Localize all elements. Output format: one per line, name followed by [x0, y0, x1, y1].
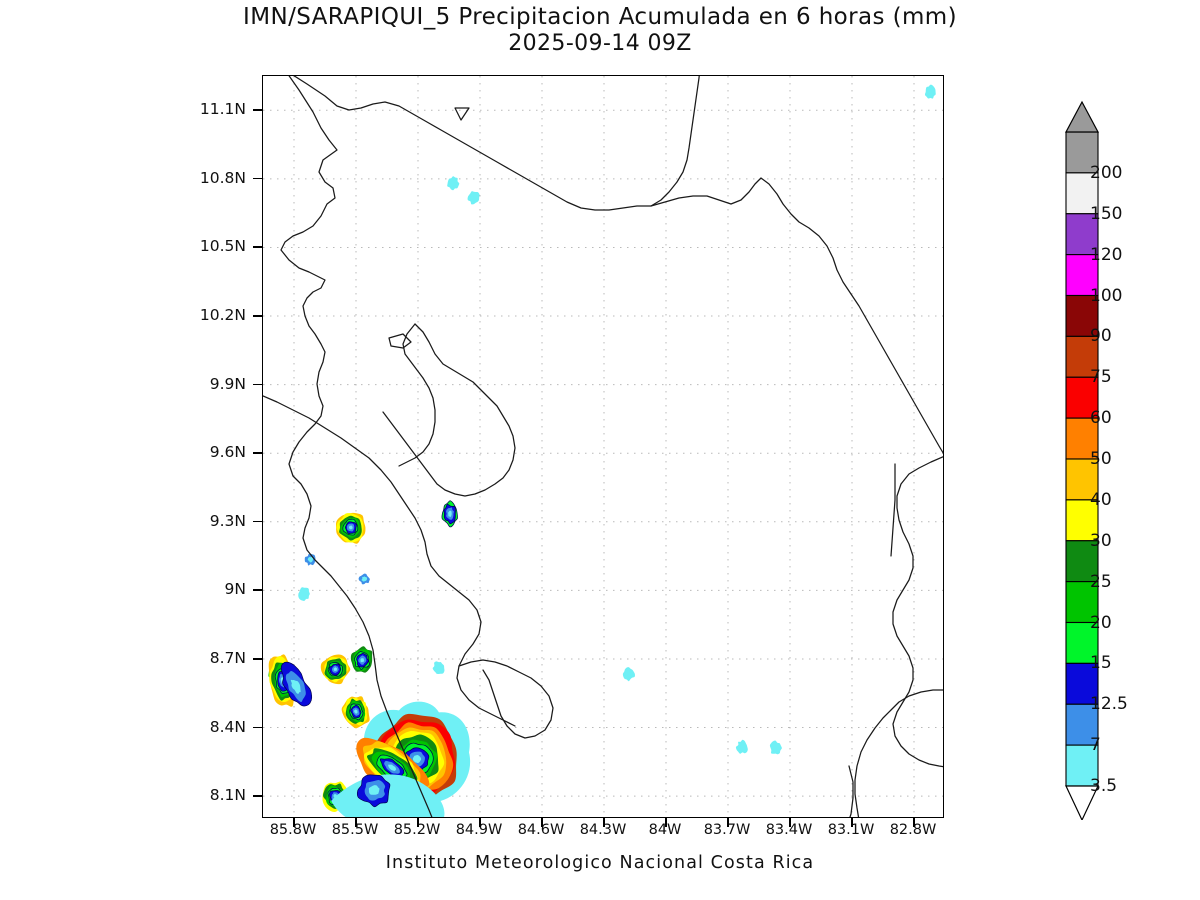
x-tick-mark-5 [603, 818, 605, 827]
triangle-up-icon [1066, 102, 1098, 132]
x-tick-mark-7 [727, 818, 729, 827]
precip-contour [623, 667, 635, 681]
map-plot-area[interactable] [262, 75, 944, 818]
y-tick-mark-3 [253, 315, 262, 317]
y-tick-label-10: 8.1N [210, 786, 246, 804]
x-tick-mark-3 [479, 818, 481, 827]
precip-contour [736, 740, 748, 754]
y-tick-mark-5 [253, 452, 262, 454]
y-tick-mark-10 [253, 795, 262, 797]
precip-contour [433, 661, 445, 674]
precipitation-map-page: IMN/SARAPIQUI_5 Precipitacion Acumulada … [0, 0, 1200, 900]
precip-contour [360, 658, 364, 662]
colorbar-tick-30: 30 [1090, 531, 1112, 551]
y-tick-label-6: 9.3N [210, 512, 246, 530]
y-tick-mark-1 [253, 178, 262, 180]
x-tick-label-4: 84.6W [518, 822, 565, 838]
colorbar-tick-12.5: 12.5 [1090, 694, 1128, 714]
colorbar-tick-25: 25 [1090, 572, 1112, 592]
precip-contour [770, 741, 782, 755]
colorbar-tick-50: 50 [1090, 449, 1112, 469]
title-datetime: 2025-09-14 09Z [0, 31, 1200, 57]
y-tick-label-7: 9N [225, 580, 246, 598]
x-tick-label-3: 84.9W [456, 822, 503, 838]
y-tick-mark-9 [253, 727, 262, 729]
y-tick-label-5: 9.6N [210, 443, 246, 461]
precip-contour [447, 176, 459, 190]
y-tick-label-0: 11.1N [200, 100, 246, 118]
x-tick-mark-1 [355, 818, 357, 827]
y-tick-mark-6 [253, 521, 262, 523]
colorbar[interactable]: 3.5712.5152025304050607590100120150200 [1048, 96, 1198, 820]
y-tick-mark-4 [253, 384, 262, 386]
colorbar-tick-200: 200 [1090, 163, 1122, 183]
y-tick-mark-2 [253, 246, 262, 248]
x-tick-label-5: 84.3W [580, 822, 627, 838]
colorbar-tick-75: 75 [1090, 367, 1112, 387]
x-tick-label-10: 82.8W [890, 822, 937, 838]
colorbar-tick-15: 15 [1090, 653, 1112, 673]
colorbar-tick-100: 100 [1090, 286, 1122, 306]
y-tick-label-3: 10.2N [200, 306, 246, 324]
footer-credit: Instituto Meteorologico Nacional Costa R… [0, 853, 1200, 873]
colorbar-tick-120: 120 [1090, 245, 1122, 265]
colorbar-tick-20: 20 [1090, 613, 1112, 633]
y-tick-mark-0 [253, 109, 262, 111]
x-tick-mark-8 [789, 818, 791, 827]
y-tick-mark-8 [253, 658, 262, 660]
x-tick-mark-10 [913, 818, 915, 827]
page-title: IMN/SARAPIQUI_5 Precipitacion Acumulada … [0, 4, 1200, 57]
precip-contour [925, 85, 936, 99]
x-tick-label-8: 83.4W [766, 822, 813, 838]
colorbar-tick-3.5: 3.5 [1090, 776, 1117, 796]
colorbar-tick-40: 40 [1090, 490, 1112, 510]
y-tick-label-8: 8.7N [210, 649, 246, 667]
precip-contour [298, 587, 310, 601]
y-tick-label-4: 9.9N [210, 375, 246, 393]
x-tick-label-2: 85.2W [394, 822, 441, 838]
precip-contour [468, 191, 480, 204]
title-main: IMN/SARAPIQUI_5 Precipitacion Acumulada … [0, 4, 1200, 31]
x-tick-label-9: 83.1W [828, 822, 875, 838]
y-tick-label-1: 10.8N [200, 169, 246, 187]
x-tick-label-1: 85.5W [332, 822, 379, 838]
x-tick-label-0: 85.8W [270, 822, 317, 838]
colorbar-tick-7: 7 [1090, 735, 1101, 755]
y-tick-label-9: 8.4N [210, 718, 246, 736]
colorbar-tick-150: 150 [1090, 204, 1122, 224]
y-tick-label-2: 10.5N [200, 237, 246, 255]
x-tick-mark-4 [541, 818, 543, 827]
y-tick-mark-7 [253, 589, 262, 591]
x-tick-label-7: 83.7W [704, 822, 751, 838]
x-tick-mark-0 [293, 818, 295, 827]
precipitation-field [268, 85, 935, 818]
colorbar-tick-60: 60 [1090, 408, 1112, 428]
x-tick-label-6: 84W [649, 822, 682, 838]
y-axis: 11.1N10.8N10.5N10.2N9.9N9.6N9.3N9N8.7N8.… [0, 0, 262, 900]
x-tick-mark-9 [851, 818, 853, 827]
map-canvas [263, 76, 944, 818]
colorbar-tick-90: 90 [1090, 326, 1112, 346]
x-tick-mark-2 [417, 818, 419, 827]
x-tick-mark-6 [665, 818, 667, 827]
